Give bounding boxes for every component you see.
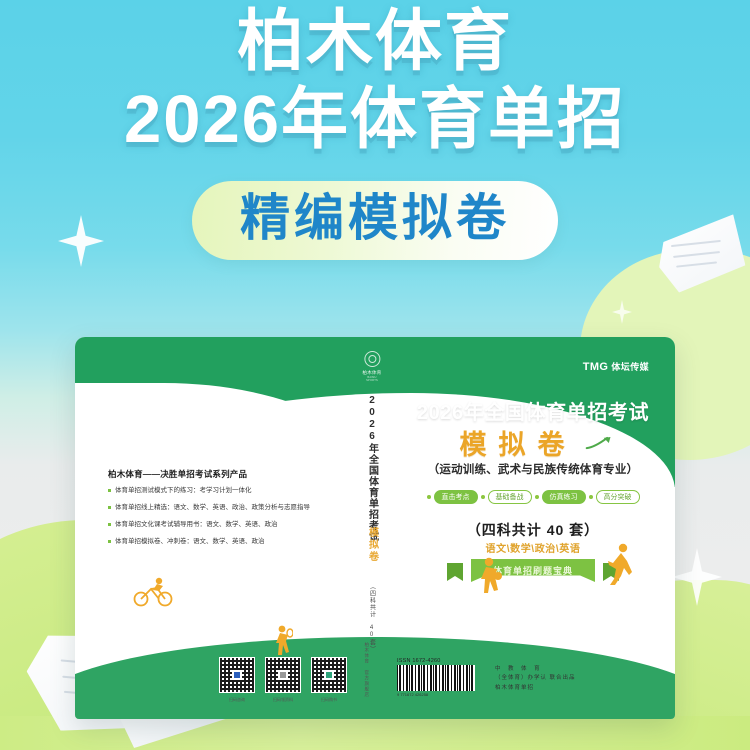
list-item: 体育单招模拟卷、冲刺卷：语文、数学、英语、政治 (108, 538, 310, 546)
spine-subtitle: 模拟卷 (365, 527, 380, 563)
brand-emblem-icon (364, 351, 380, 367)
cover-subtitle-row: 模拟卷 (391, 423, 675, 462)
feature-tag: 直击考点 (434, 490, 478, 504)
highlight-pill: 精编模拟卷 (192, 181, 558, 260)
feature-tag-list: 直击考点 基础备战 仿真练习 高分突破 (391, 490, 675, 504)
publisher-info: 中 教 体 育 （全体育）办学认 联合出品 柏木体育单招 (495, 665, 576, 693)
feature-tag: 基础备战 (488, 490, 532, 504)
feature-tag: 仿真练习 (542, 490, 586, 504)
qr-caption: 扫码领资料 (265, 697, 301, 703)
publisher-line: 中 教 体 育 (495, 665, 576, 674)
barcode-block: ISSN 1672-4260 9 771672 426258 (397, 658, 475, 697)
book-cover[interactable]: 柏木体育——决胜单招考试系列产品 体育单招测试模式下的练习：考学习计划一体化 体… (75, 337, 675, 719)
book-bottom-strip: 扫码咨询 扫码领资料 扫码购书 柏木体育 官方旗舰店 ISSN 1672-426… (75, 629, 675, 719)
publisher-line: （全体育）办学认 联合出品 (495, 674, 576, 683)
spine-title: 2026年全国体育单招考试 (365, 395, 380, 542)
basketball-player-icon (475, 557, 503, 599)
cyclist-icon (133, 575, 173, 607)
qr-code[interactable] (311, 657, 347, 693)
list-item-text: 体育单招线上精选：语文、数学、英语、政治、政策分析与志愿指导 (115, 504, 310, 512)
spine-logo: 柏木体育 BAIMU SPORTS (362, 351, 381, 382)
pill-label: 精编模拟卷 (240, 191, 510, 246)
bullet-icon (108, 506, 111, 509)
tag-dot-icon (589, 495, 593, 499)
year-title: 2026年体育单招 (0, 86, 750, 154)
cover-title: 2026年全国体育单招考试 (391, 396, 675, 425)
ribbon-tail-left (447, 563, 463, 581)
publisher-line: 柏木体育单招 (495, 684, 576, 693)
cover-specialty: （运动训练、武术与民族传统体育专业） (391, 461, 675, 477)
qr-code[interactable] (265, 657, 301, 693)
qr-code[interactable] (219, 657, 255, 693)
poster-canvas: 柏木体育 2026年体育单招 精编模拟卷 柏木体育——决胜单招考试系列产品 (0, 0, 750, 750)
list-item: 体育单招线上精选：语文、数学、英语、政治、政策分析与志愿指导 (108, 504, 310, 512)
qr-caption: 扫码购书 (311, 697, 347, 703)
list-item-text: 体育单招测试模式下的练习：考学习计划一体化 (115, 487, 252, 495)
bullet-icon (108, 540, 111, 543)
publisher-logo-mark: TMG (583, 361, 609, 373)
tag-dot-icon (427, 495, 431, 499)
tag-dot-icon (535, 495, 539, 499)
bullet-icon (108, 523, 111, 526)
spine-brand-en: BAIMU SPORTS (362, 376, 381, 382)
cover-count-line: （四科共计 40 套） (391, 520, 675, 540)
publisher-logo: TMG 体坛传媒 (583, 360, 649, 373)
issn-label: ISSN 1672-4260 (397, 658, 475, 664)
list-item-text: 体育单招模拟卷、冲刺卷：语文、数学、英语、政治 (115, 538, 265, 546)
barcode-icon (397, 665, 475, 691)
publisher-logo-cn: 体坛传媒 (611, 360, 649, 373)
swoosh-icon (585, 435, 619, 451)
cover-subtitle: 模拟卷 (448, 423, 577, 462)
back-cover-title: 柏木体育——决胜单招考试系列产品 (108, 468, 247, 480)
tag-dot-icon (481, 495, 485, 499)
brand-title: 柏木体育 (0, 8, 750, 76)
back-cover-list: 体育单招测试模式下的练习：考学习计划一体化 体育单招线上精选：语文、数学、英语、… (108, 487, 310, 556)
vertical-note: 柏木体育 官方旗舰店 (363, 642, 370, 698)
barcode-number: 9 771672 426258 (397, 692, 475, 697)
qr-caption: 扫码咨询 (219, 697, 255, 703)
list-item-text: 体育单招文化课考试辅导用书：语文、数学、英语、政治 (115, 521, 278, 529)
bullet-icon (108, 489, 111, 492)
runner-icon (605, 543, 635, 587)
feature-tag: 高分突破 (596, 490, 640, 504)
list-item: 体育单招测试模式下的练习：考学习计划一体化 (108, 487, 310, 495)
poster-header: 柏木体育 2026年体育单招 精编模拟卷 (0, 0, 750, 260)
list-item: 体育单招文化课考试辅导用书：语文、数学、英语、政治 (108, 521, 310, 529)
